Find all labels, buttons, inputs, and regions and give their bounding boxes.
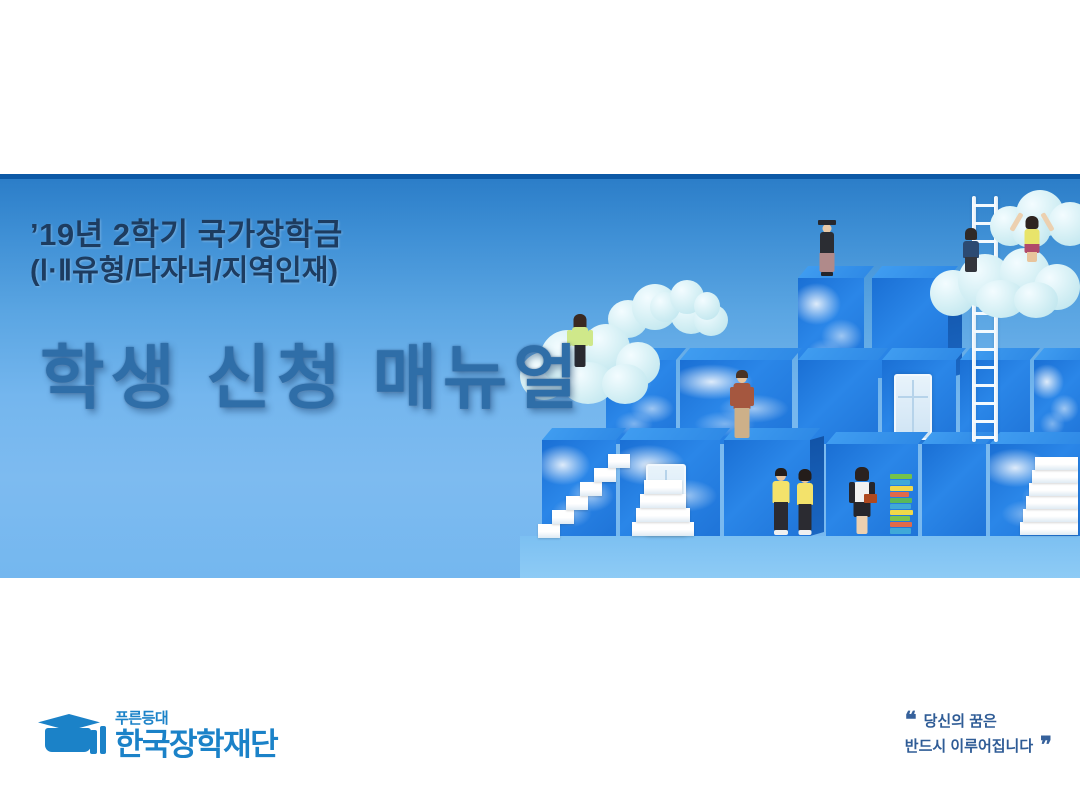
cloud-small-accent xyxy=(650,280,720,324)
tagline-line2: 반드시 이루어집니다 xyxy=(905,735,1033,760)
tagline-line1: 당신의 꿈은 xyxy=(924,710,997,735)
clipboard-icon xyxy=(864,494,877,503)
tagline-block: ❝ 당신의 꿈은 반드시 이루어집니다 ❞ xyxy=(905,710,1052,760)
student-yellow-1-figure xyxy=(770,470,792,536)
banner-title-line1: ’19년 2학기 국가장학금 xyxy=(30,218,343,253)
book-stack-icon xyxy=(890,474,914,536)
door-icon xyxy=(894,374,932,440)
block-low-5 xyxy=(922,444,986,536)
white-steps-front xyxy=(632,478,702,538)
logo-text-group: 푸른등대 한국장학재단 xyxy=(115,711,277,760)
graduate-figure xyxy=(816,220,838,278)
banner-headline: 학생 신청 매뉴얼 xyxy=(40,322,584,423)
logo-sub-text: 푸른등대 xyxy=(115,711,277,726)
white-staircase-left xyxy=(538,446,642,538)
illustration-scene xyxy=(520,174,1080,578)
open-quote-icon: ❝ xyxy=(905,710,917,730)
woman-with-clipboard-figure xyxy=(850,470,874,536)
logo-main-text: 한국장학재단 xyxy=(115,729,277,760)
hero-banner: ’19년 2학기 국가장학금 (Ⅰ·Ⅱ유형/다자녀/지역인재) 학생 신청 매뉴… xyxy=(0,174,1080,578)
banner-title-group: ’19년 2학기 국가장학금 (Ⅰ·Ⅱ유형/다자녀/지역인재) xyxy=(30,218,343,289)
girl-cheering-figure xyxy=(1012,210,1052,262)
cloud-right-large xyxy=(930,248,1080,320)
close-quote-icon: ❞ xyxy=(1040,735,1052,755)
foundation-logo: 푸른등대 한국장학재단 xyxy=(38,708,277,760)
white-steps-right xyxy=(1020,456,1080,536)
graduation-cap-icon xyxy=(38,708,108,760)
person-climbing-ladder-figure xyxy=(960,230,982,274)
student-yellow-2-figure xyxy=(794,472,816,536)
banner-title-line2: (Ⅰ·Ⅱ유형/다자녀/지역인재) xyxy=(30,253,343,289)
man-on-block-figure xyxy=(730,372,754,442)
scene-ground xyxy=(520,536,1080,578)
